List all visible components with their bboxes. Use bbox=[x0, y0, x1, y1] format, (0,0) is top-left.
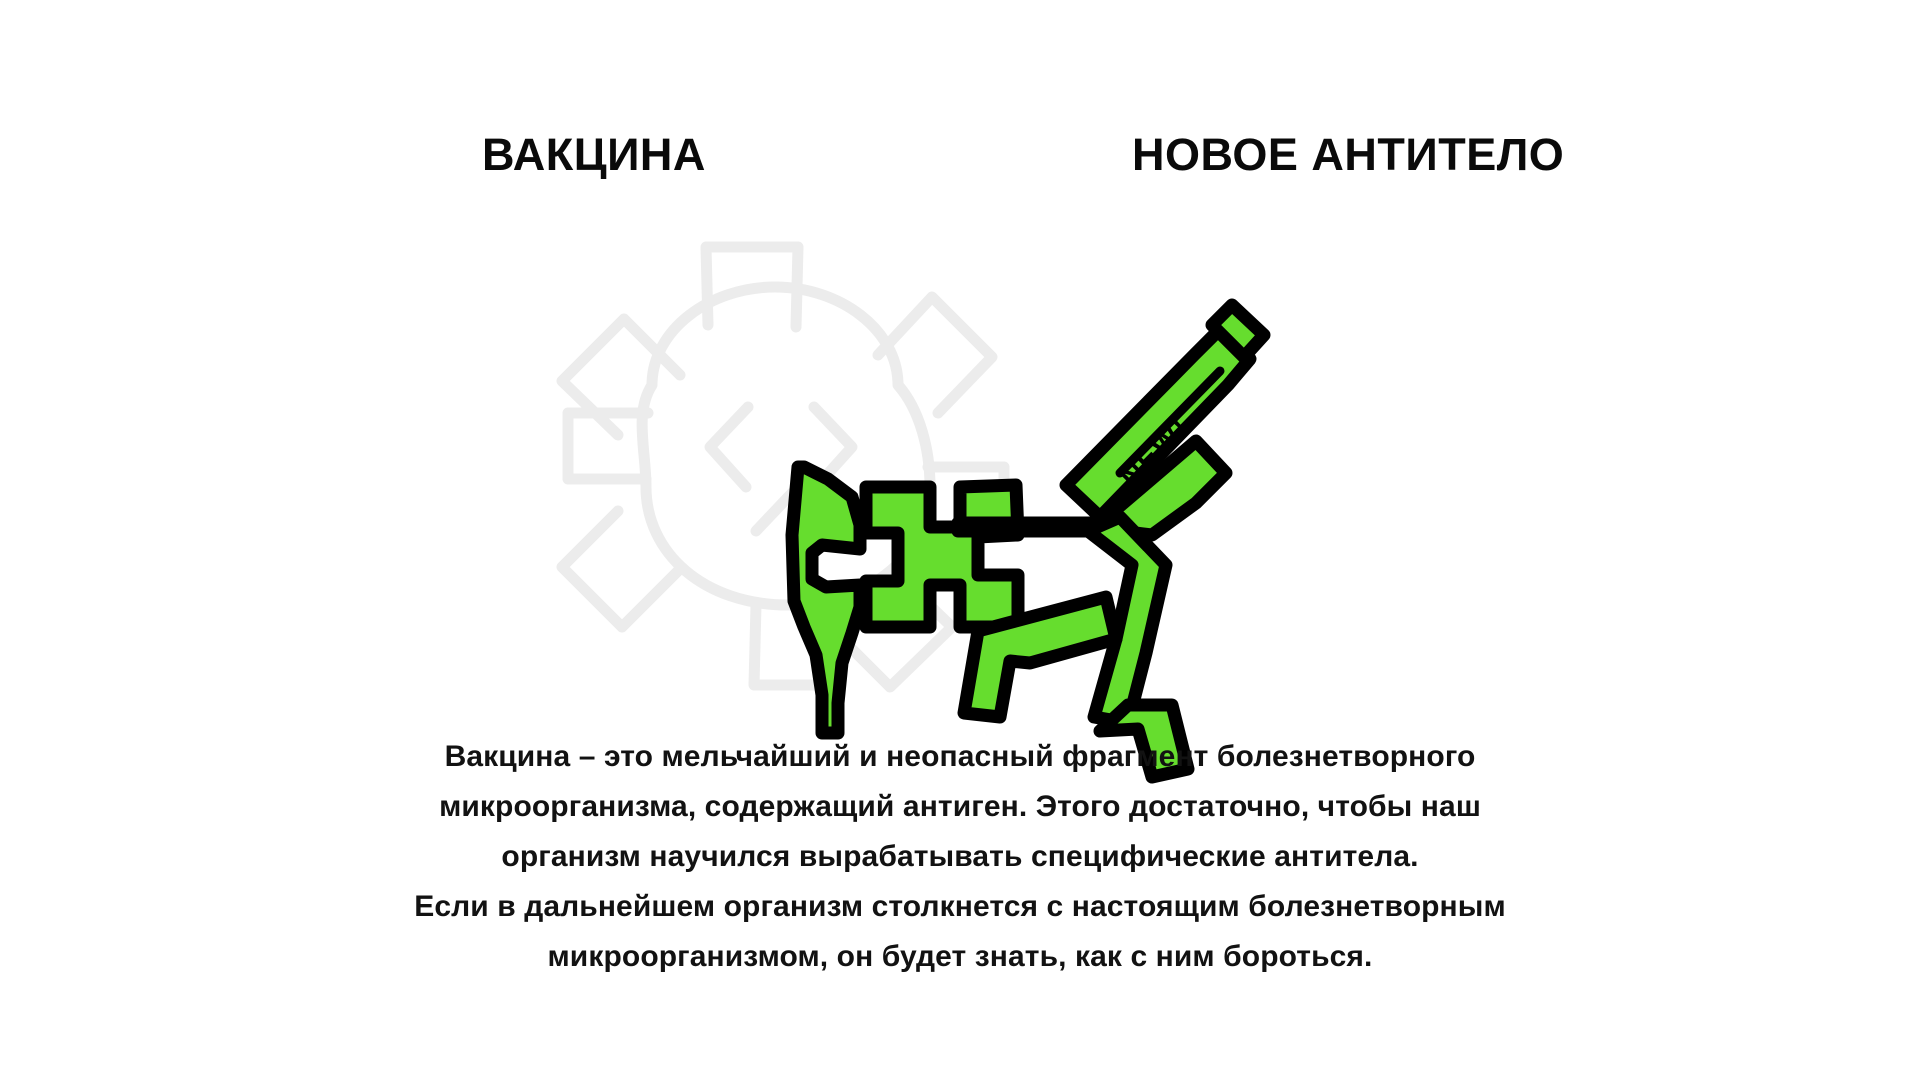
body-line-4: Если в дальнейшем организм столкнется с … bbox=[260, 882, 1660, 932]
body-line-5: микроорганизмом, он будет знать, как с н… bbox=[260, 932, 1660, 982]
body-line-3: организм научился вырабатывать специфиче… bbox=[260, 832, 1660, 882]
new-antibody-y-shape bbox=[866, 305, 1264, 777]
heading-vaccine: ВАКЦИНА bbox=[482, 128, 706, 182]
body-line-1: Вакцина – это мельчайший и неопасный фра… bbox=[260, 732, 1660, 782]
virus-particle-outline bbox=[562, 247, 1004, 687]
headings-row: ВАКЦИНА НОВОЕ АНТИТЕЛО bbox=[0, 128, 1920, 188]
antigen-fragment-shape bbox=[792, 467, 860, 733]
heading-new-antibody: НОВОЕ АНТИТЕЛО bbox=[1132, 128, 1564, 182]
vaccine-antibody-svg: NEW! bbox=[560, 235, 1380, 665]
body-line-2: микроорганизма, содержащий антиген. Этог… bbox=[260, 782, 1660, 832]
slide-canvas: ВАКЦИНА НОВОЕ АНТИТЕЛО bbox=[0, 0, 1920, 1080]
illustration-container: NEW! bbox=[560, 235, 1380, 665]
body-paragraph: Вакцина – это мельчайший и неопасный фра… bbox=[260, 732, 1660, 982]
